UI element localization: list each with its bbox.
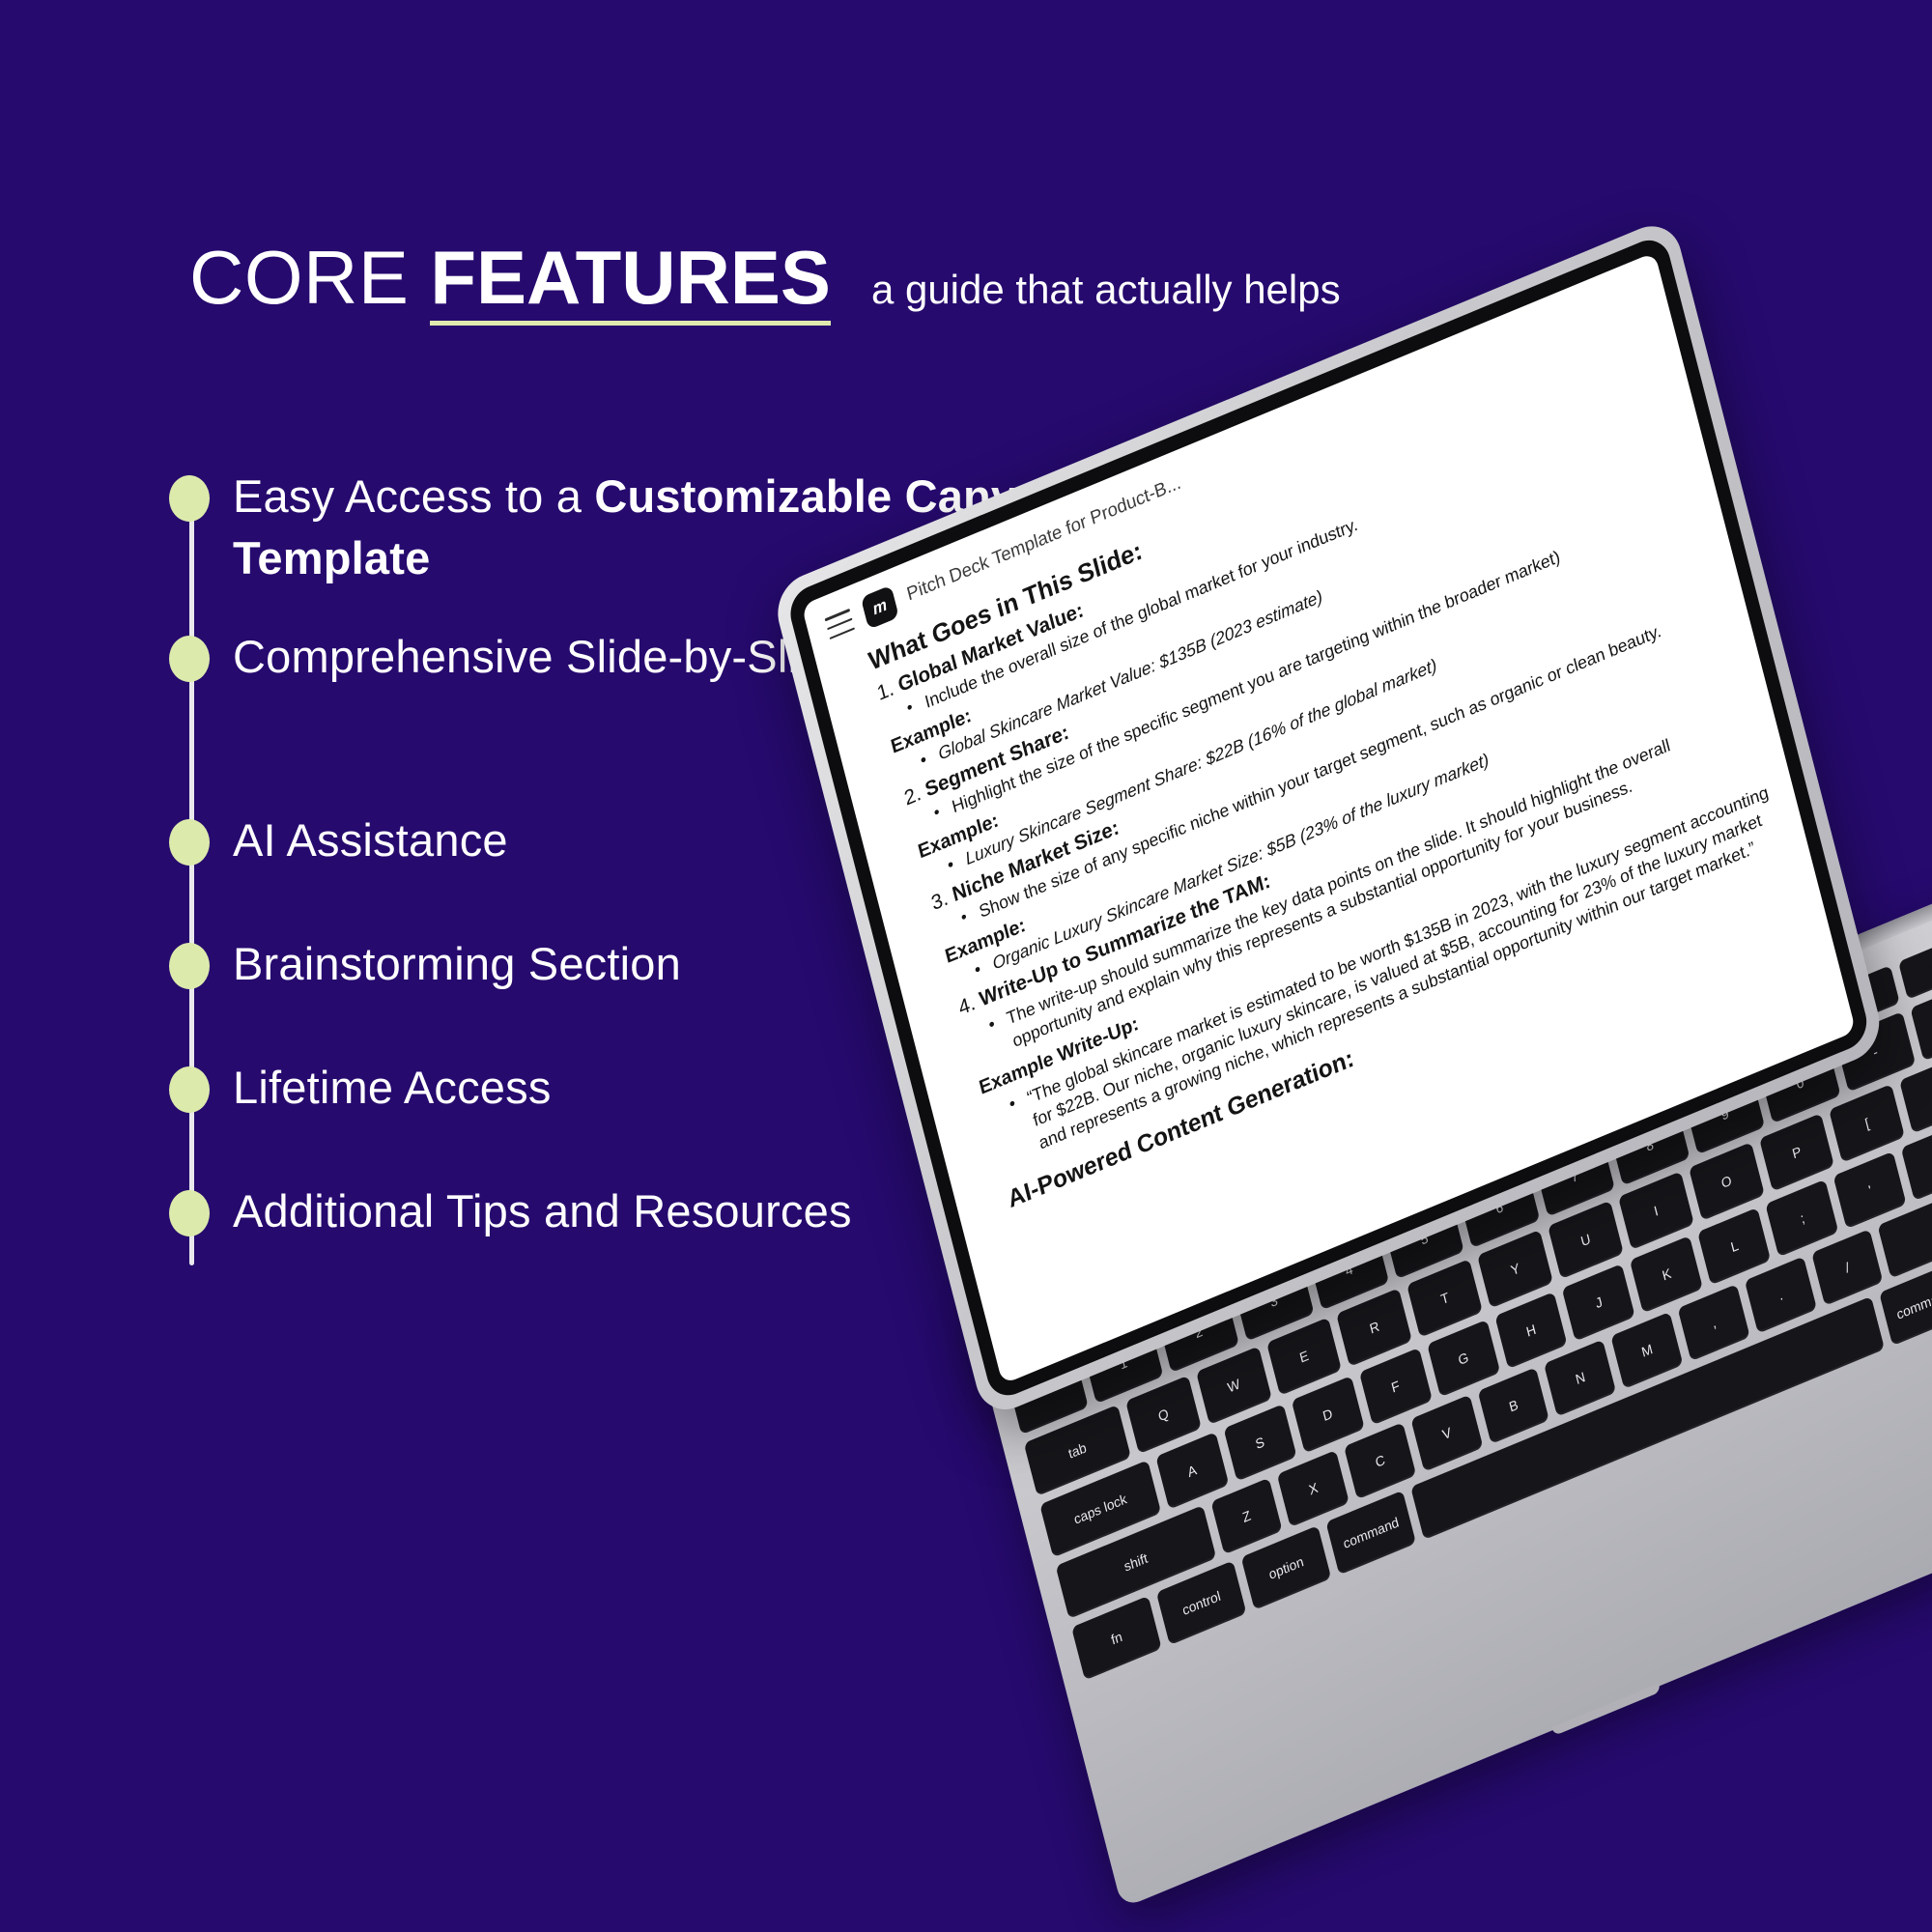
bullet-dot-icon [169, 1190, 210, 1236]
hamburger-menu-icon[interactable] [825, 609, 855, 639]
feature-label: Additional Tips and Resources [233, 1180, 852, 1242]
timeline-rail [189, 483, 194, 1265]
page-title: CORE FEATURES a guide that actually help… [189, 240, 1341, 326]
feature-label: AI Assistance [233, 810, 508, 871]
feature-text-plain: Easy Access to a [233, 470, 594, 522]
bullet-dot-icon [169, 475, 210, 522]
document-section-number: 3. [929, 887, 951, 915]
feature-label: Lifetime Access [233, 1057, 552, 1119]
bullet-dot-icon [169, 1066, 210, 1113]
bullet-dot-icon [169, 943, 210, 989]
feature-label: Brainstorming Section [233, 933, 681, 995]
page-subtitle: a guide that actually helps [871, 270, 1341, 310]
document-section-number: 2. [902, 782, 923, 810]
document-section-number: 4. [956, 992, 978, 1020]
document-section-number: 1. [875, 677, 896, 705]
title-features: FEATURES [430, 240, 831, 326]
trackpad-edge[interactable] [1552, 1683, 1662, 1736]
app-logo-icon: m [861, 585, 899, 630]
key-⏻[interactable]: ⏻ [1898, 934, 1932, 1000]
bullet-dot-icon [169, 819, 210, 866]
laptop-mockup: esc☀☀⌗⌕🎙▶⏮⏭🔇🔉🔊⏻ `1234567890-= tabQWERTYU… [908, 541, 1932, 1932]
title-core: CORE [189, 240, 409, 315]
bullet-dot-icon [169, 636, 210, 682]
